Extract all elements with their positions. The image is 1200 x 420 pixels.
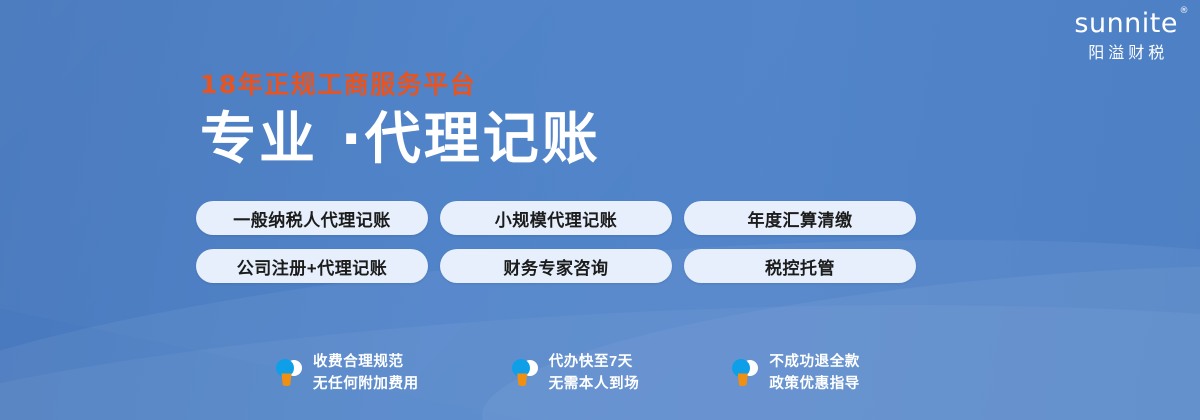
service-pill-grid: 一般纳税人代理记账 小规模代理记账 年度汇算清缴 公司注册+代理记账 财务专家咨…: [196, 201, 916, 283]
feature-text: 收费合理规范 无任何附加费用: [313, 351, 419, 396]
badge-icon: [732, 358, 758, 388]
feature-line-2: 无需本人到场: [549, 376, 640, 392]
registered-trademark-icon: ®: [1180, 7, 1190, 16]
feature-line-2: 无任何附加费用: [313, 376, 419, 392]
feature-item: 代办快至7天 无需本人到场: [512, 351, 640, 396]
service-pill[interactable]: 小规模代理记账: [440, 201, 672, 235]
service-pill[interactable]: 财务专家咨询: [440, 249, 672, 283]
badge-icon: [276, 358, 302, 388]
feature-line-1: 代办快至7天: [549, 354, 633, 370]
feature-line-1: 收费合理规范: [313, 354, 404, 370]
feature-list: 收费合理规范 无任何附加费用 代办快至7天 无需本人到场 不成功退全款: [276, 351, 860, 396]
service-pill[interactable]: 年度汇算清缴: [684, 201, 916, 235]
feature-line-1: 不成功退全款: [769, 354, 860, 370]
hero-title: 专业 ·代理记账: [200, 111, 601, 170]
service-pill[interactable]: 税控托管: [684, 249, 916, 283]
badge-base-icon: [280, 373, 293, 386]
brand-logo[interactable]: sunnite ® 阳溢财税: [1074, 10, 1178, 62]
feature-item: 不成功退全款 政策优惠指导: [732, 351, 860, 396]
service-pill[interactable]: 一般纳税人代理记账: [196, 201, 428, 235]
badge-icon: [512, 358, 538, 388]
feature-item: 收费合理规范 无任何附加费用: [276, 351, 419, 396]
hero-text-block: 18年正规工商服务平台 专业 ·代理记账: [200, 72, 601, 170]
service-pill[interactable]: 公司注册+代理记账: [196, 249, 428, 283]
logo-wordmark-text: sunnite: [1074, 8, 1178, 39]
hero-eyebrow: 18年正规工商服务平台: [200, 72, 601, 97]
feature-text: 代办快至7天 无需本人到场: [549, 351, 640, 396]
logo-chinese-name: 阳溢财税: [1074, 46, 1178, 62]
feature-line-2: 政策优惠指导: [769, 376, 860, 392]
feature-text: 不成功退全款 政策优惠指导: [769, 351, 860, 396]
badge-base-icon: [736, 373, 749, 386]
badge-base-icon: [516, 373, 529, 386]
promo-banner: sunnite ® 阳溢财税 18年正规工商服务平台 专业 ·代理记账 一般纳税…: [0, 0, 1200, 420]
logo-wordmark: sunnite ®: [1074, 10, 1178, 37]
